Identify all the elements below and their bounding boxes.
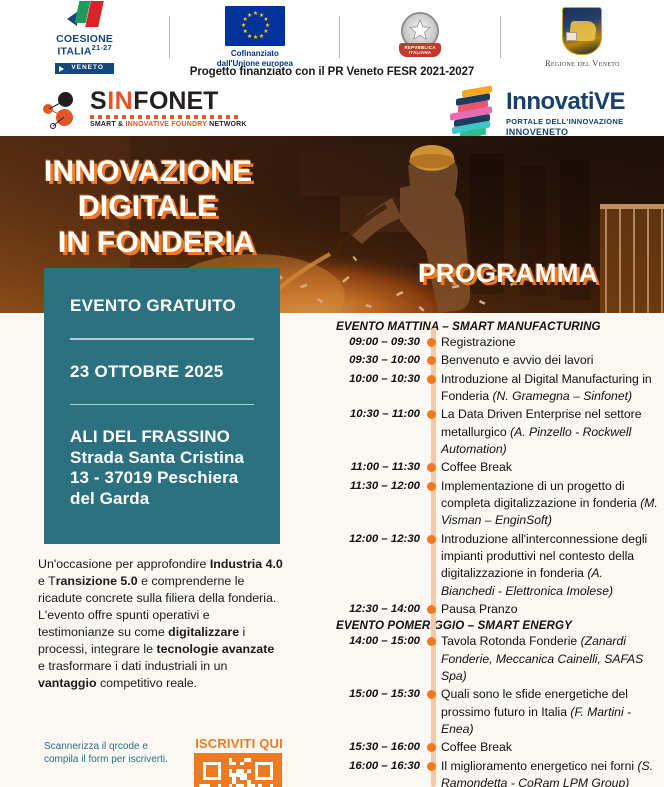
event-description: Un'occasione per approfondire Industria … (38, 556, 284, 692)
program-item-time: 09:30 – 10:00 (336, 352, 426, 369)
innovative-wordmark: InnovatiVE (506, 90, 625, 114)
venetian-lion-shield-icon (562, 7, 602, 55)
funding-statement: Progetto finanziato con il PR Veneto FES… (0, 66, 664, 78)
sinfonet-dotted-rule (90, 115, 240, 119)
register-here-label: ISCRIVITI QUI (194, 736, 284, 751)
description-paragraph-2: L'evento offre spunti operativi e testim… (38, 607, 284, 692)
program-item: 11:30 – 12:00Implementazione di un proge… (336, 478, 658, 530)
timeline-dot-cell (426, 633, 441, 685)
coesione-years: 21-27 (92, 43, 112, 52)
hero-title: INNOVAZIONE DIGITALE IN FONDERIA (44, 154, 374, 260)
institutional-logos-row: COESIONE ITALIA21-27 VENETO ★★★★★★★★★★★★… (0, 6, 664, 68)
program-item-time: 11:00 – 11:30 (336, 459, 426, 476)
info-divider (70, 338, 254, 340)
eu-star-icon: ★ (259, 14, 263, 18)
venue-address-line2: 13 - 37019 Peschiera (70, 468, 238, 487)
eu-star-icon: ★ (242, 30, 246, 34)
coesione-line2: ITALIA (57, 46, 91, 58)
timeline-dot-cell (426, 352, 441, 369)
emblem-ribbon-text: REPVBBLICA ITALIANA (397, 45, 443, 55)
event-poster: COESIONE ITALIA21-27 VENETO ★★★★★★★★★★★★… (0, 0, 664, 787)
info-divider (70, 404, 254, 406)
program-item-description: Pausa Pranzo (441, 601, 658, 618)
program-item: 09:30 – 10:00Benvenuto e avvio dei lavor… (336, 352, 658, 369)
innovative-ribbon-icon (448, 86, 500, 136)
program-item-time: 12:00 – 12:30 (336, 531, 426, 600)
eu-cofinanziato-logo: ★★★★★★★★★★★★ Cofinanziato dall'Unione eu… (170, 6, 339, 68)
program-item: 10:30 – 11:00La Data Driven Enterprise n… (336, 406, 658, 458)
program-item-description: La Data Driven Enterprise nel settore me… (441, 406, 658, 458)
program-item: 15:30 – 16:00Coffee Break (336, 739, 658, 756)
timeline-dot-icon (427, 356, 436, 365)
eu-star-icon: ★ (253, 12, 257, 16)
program-item-description: Coffee Break (441, 739, 658, 756)
timeline-dot-icon (427, 463, 436, 472)
program-item-time: 12:30 – 14:00 (336, 601, 426, 618)
regione-veneto-logo: Regione del Veneto (501, 6, 664, 68)
timeline-dot-cell (426, 334, 441, 351)
qr-note-line1: Scannerizza il qrcode e (44, 740, 184, 753)
program-item-description: Il miglioramento energetico nei forni (S… (441, 758, 658, 787)
network-nodes-icon (42, 92, 88, 132)
event-date: 23 OTTOBRE 2025 (70, 362, 254, 382)
program-item-time: 11:30 – 12:00 (336, 478, 426, 530)
venue-address-line3: del Garda (70, 489, 149, 508)
program-item-title: Tavola Rotonda Fonderie (441, 634, 581, 648)
eu-star-icon: ★ (253, 36, 257, 40)
coesione-mark-icon (59, 1, 111, 31)
hero-title-line2: DIGITALE (44, 189, 374, 224)
program-item-title: Introduzione all'interconnessione degli … (441, 532, 647, 581)
program-item-title: Registrazione (441, 335, 516, 349)
timeline-dot-icon (427, 690, 436, 699)
sinfonet-logo: SINFONET SMART & INNOVATIVE FOUNDRY NETW… (42, 88, 272, 134)
eu-star-icon: ★ (241, 24, 245, 28)
program-item-description: Implementazione di un progetto di comple… (441, 478, 658, 530)
timeline-dot-icon (427, 535, 436, 544)
coesione-italia-logo: COESIONE ITALIA21-27 VENETO (0, 6, 169, 68)
sinfonet-tagline: SMART & INNOVATIVE FOUNDRY NETWORK (90, 121, 247, 128)
repubblica-italiana-emblem: REPVBBLICA ITALIANA (340, 6, 499, 68)
hero-title-line3: IN FONDERIA (44, 225, 374, 260)
eu-star-icon: ★ (242, 18, 246, 22)
program-section-heading: EVENTO MATTINA – SMART MANUFACTURING (336, 320, 658, 333)
program-item-description: Registrazione (441, 334, 658, 351)
free-event-label: EVENTO GRATUITO (70, 296, 254, 316)
venue-address-line1: Strada Santa Cristina (70, 448, 244, 467)
program-item-time: 09:00 – 09:30 (336, 334, 426, 351)
eu-star-icon: ★ (247, 35, 251, 39)
eu-star-icon: ★ (247, 14, 251, 18)
program-schedule: EVENTO MATTINA – SMART MANUFACTURING09:0… (336, 320, 658, 787)
program-item-description: Tavola Rotonda Fonderie (Zanardi Fonderi… (441, 633, 658, 685)
program-item-description: Coffee Break (441, 459, 658, 476)
eu-star-icon: ★ (259, 35, 263, 39)
partner-logos-row: SINFONET SMART & INNOVATIVE FOUNDRY NETW… (0, 88, 664, 134)
timeline-dot-icon (427, 637, 436, 646)
timeline-dot-icon (427, 743, 436, 752)
timeline-dot-cell (426, 478, 441, 530)
timeline-dot-cell (426, 371, 441, 406)
program-item: 09:00 – 09:30Registrazione (336, 334, 658, 351)
program-item: 15:00 – 15:30Quali sono le sfide energet… (336, 686, 658, 738)
program-item-description: Quali sono le sfide energetiche del pros… (441, 686, 658, 738)
qr-instructions: Scannerizza il qrcode e compila il form … (44, 740, 184, 766)
timeline-dot-icon (427, 482, 436, 491)
program-item: 14:00 – 15:00Tavola Rotonda Fonderie (Za… (336, 633, 658, 685)
program-item-time: 15:30 – 16:00 (336, 739, 426, 756)
program-item-time: 14:00 – 15:00 (336, 633, 426, 685)
program-item: 11:00 – 11:30Coffee Break (336, 459, 658, 476)
timeline-dot-cell (426, 758, 441, 787)
timeline-dot-cell (426, 531, 441, 600)
eu-flag-icon: ★★★★★★★★★★★★ (225, 6, 285, 46)
qr-code-image[interactable] (194, 753, 282, 787)
description-paragraph-1: Un'occasione per approfondire Industria … (38, 556, 284, 607)
timeline-dot-icon (427, 605, 436, 614)
venue-name: ALI DEL FRASSINO (70, 427, 254, 448)
program-item-title: Coffee Break (441, 740, 512, 754)
innovative-logo: InnovatiVE PORTALE DELL'INNOVAZIONE INNO… (448, 86, 648, 136)
program-item-time: 10:30 – 11:00 (336, 406, 426, 458)
program-item: 12:30 – 14:00Pausa Pranzo (336, 601, 658, 618)
timeline-dot-cell (426, 686, 441, 738)
hero-title-line1: INNOVAZIONE (44, 155, 252, 188)
program-item-time: 15:00 – 15:30 (336, 686, 426, 738)
program-item-description: Introduzione all'interconnessione degli … (441, 531, 658, 600)
event-venue: ALI DEL FRASSINO Strada Santa Cristina 1… (70, 427, 254, 510)
program-item: 16:00 – 16:30Il miglioramento energetico… (336, 758, 658, 787)
innovative-sub1: PORTALE DELL'INNOVAZIONE (506, 117, 625, 126)
qr-note-line2: compila il form per iscriverti. (44, 753, 184, 766)
program-item-title: Coffee Break (441, 460, 512, 474)
programma-heading: PROGRAMMA (418, 258, 598, 289)
program-item-speaker: (N. Gramegna – Sinfonet) (493, 389, 633, 403)
program-item: 12:00 – 12:30Introduzione all'interconne… (336, 531, 658, 600)
timeline-dot-cell (426, 459, 441, 476)
program-item-title: Il miglioramento energetico nei forni (441, 759, 637, 773)
eu-star-icon: ★ (265, 24, 269, 28)
program-item-description: Benvenuto e avvio dei lavori (441, 352, 658, 369)
timeline-dot-cell (426, 739, 441, 756)
program-item-time: 16:00 – 16:30 (336, 758, 426, 787)
timeline-dot-cell (426, 601, 441, 618)
sponsor-logo-bar: COESIONE ITALIA21-27 VENETO ★★★★★★★★★★★★… (0, 0, 664, 136)
timeline-dot-icon (427, 410, 436, 419)
eu-star-icon: ★ (263, 18, 267, 22)
program-item-time: 10:00 – 10:30 (336, 371, 426, 406)
qr-code-block[interactable]: ISCRIVITI QUI (194, 736, 284, 787)
program-item: 10:00 – 10:30Introduzione al Digital Man… (336, 371, 658, 406)
timeline-dot-icon (427, 762, 436, 771)
sinfonet-wordmark: SINFONET (90, 89, 247, 114)
star-icon (409, 19, 431, 41)
program-section-heading: EVENTO POMERIGGIO – SMART ENERGY (336, 619, 658, 632)
timeline-dot-icon (427, 375, 436, 384)
program-item-description: Introduzione al Digital Manufacturing in… (441, 371, 658, 406)
eu-logo-line1: Cofinanziato (217, 49, 293, 58)
timeline-dot-icon (427, 338, 436, 347)
program-item-title: Pausa Pranzo (441, 602, 518, 616)
event-info-box: EVENTO GRATUITO 23 OTTOBRE 2025 ALI DEL … (44, 268, 280, 544)
program-item-title: Implementazione di un progetto di comple… (441, 479, 640, 510)
program-item-title: Benvenuto e avvio dei lavori (441, 353, 593, 367)
timeline-dot-cell (426, 406, 441, 458)
